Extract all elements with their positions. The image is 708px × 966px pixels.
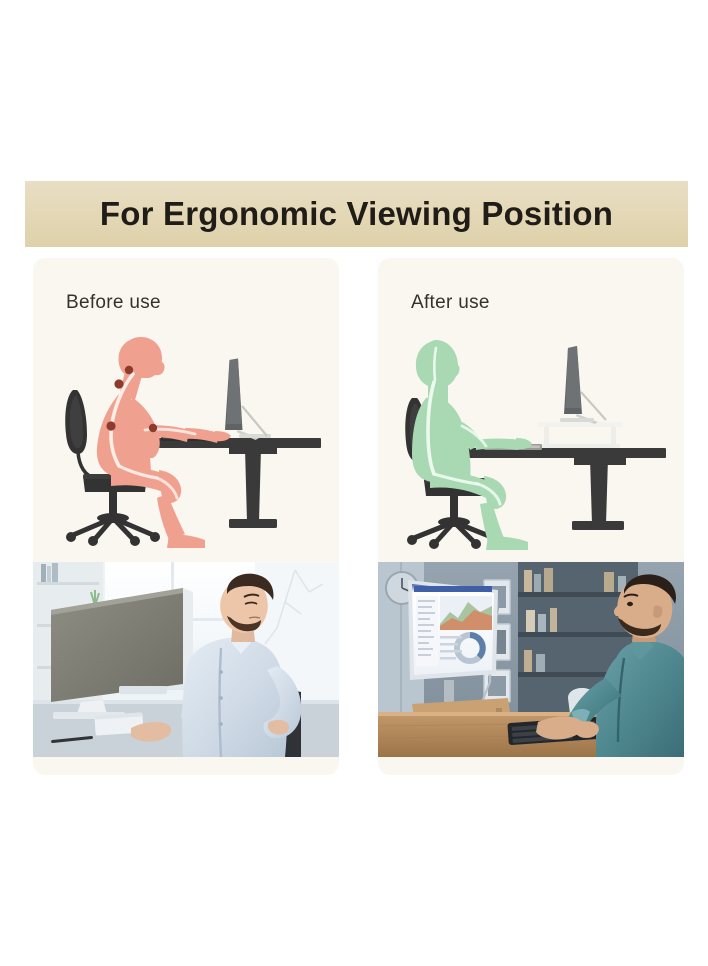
panel-after-use: After use	[378, 258, 684, 775]
man-with-back-pain-photo	[33, 562, 339, 757]
man-working-comfortably-photo	[378, 562, 684, 757]
panel-label-before: Before use	[66, 292, 161, 314]
page-title: For Ergonomic Viewing Position	[100, 195, 613, 233]
after-use-posture-illustration	[378, 326, 684, 554]
panel-before-use: Before use	[33, 258, 339, 775]
panel-label-after: After use	[411, 292, 490, 314]
title-banner: For Ergonomic Viewing Position	[25, 181, 688, 247]
before-use-posture-illustration	[33, 326, 339, 554]
